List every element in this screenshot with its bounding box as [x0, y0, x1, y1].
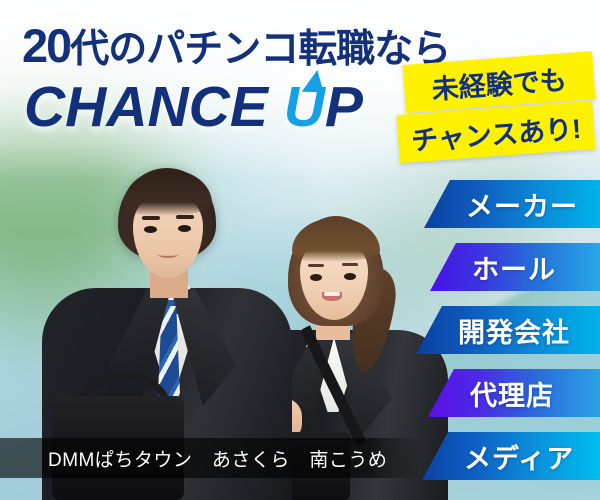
headline-p-letter: P: [325, 75, 363, 139]
female-eyebrow-left: [308, 264, 324, 267]
category-banner-agency[interactable]: 代理店: [428, 369, 600, 417]
category-label-media: メディア: [464, 437, 574, 476]
category-banner-developer[interactable]: 開発会社: [416, 306, 600, 354]
caption-text: DMMぱちタウン あさくら 南こうめ: [48, 445, 387, 472]
category-label-developer: 開発会社: [458, 311, 570, 350]
category-banner-list: メーカー ホール 開発会社 代理店 メディア: [400, 0, 600, 500]
category-label-hall: ホール: [472, 248, 556, 287]
advertisement-banner[interactable]: 20代のパチンコ転職なら CHANCE UP 未経験でも チャンスあり! メーカ…: [0, 0, 600, 500]
male-mouth: [158, 251, 178, 258]
male-eyebrow-left: [142, 216, 160, 220]
up-arrow-icon: [302, 70, 328, 93]
headline-line-1-text: 代のパチンコ転職なら: [70, 28, 450, 71]
category-banner-media[interactable]: メディア: [422, 432, 600, 480]
headline-line-1: 20代のパチンコ転職なら: [22, 18, 450, 74]
headline-number: 20: [22, 19, 70, 72]
category-label-agency: 代理店: [470, 374, 554, 413]
caption-bar: DMMぱちタウン あさくら 南こうめ: [0, 438, 420, 478]
headline-chance-text: CHANCE: [24, 75, 284, 139]
category-label-maker: メーカー: [466, 185, 578, 224]
female-eyebrow-right: [342, 263, 358, 266]
category-banner-hall[interactable]: ホール: [430, 243, 600, 291]
male-eye-left: [144, 226, 157, 233]
male-eyebrow-right: [176, 215, 194, 219]
male-eye-right: [178, 225, 191, 232]
category-banner-maker[interactable]: メーカー: [424, 180, 600, 228]
female-eye-right: [344, 273, 356, 280]
female-eye-left: [310, 274, 322, 281]
female-teeth: [324, 292, 340, 296]
